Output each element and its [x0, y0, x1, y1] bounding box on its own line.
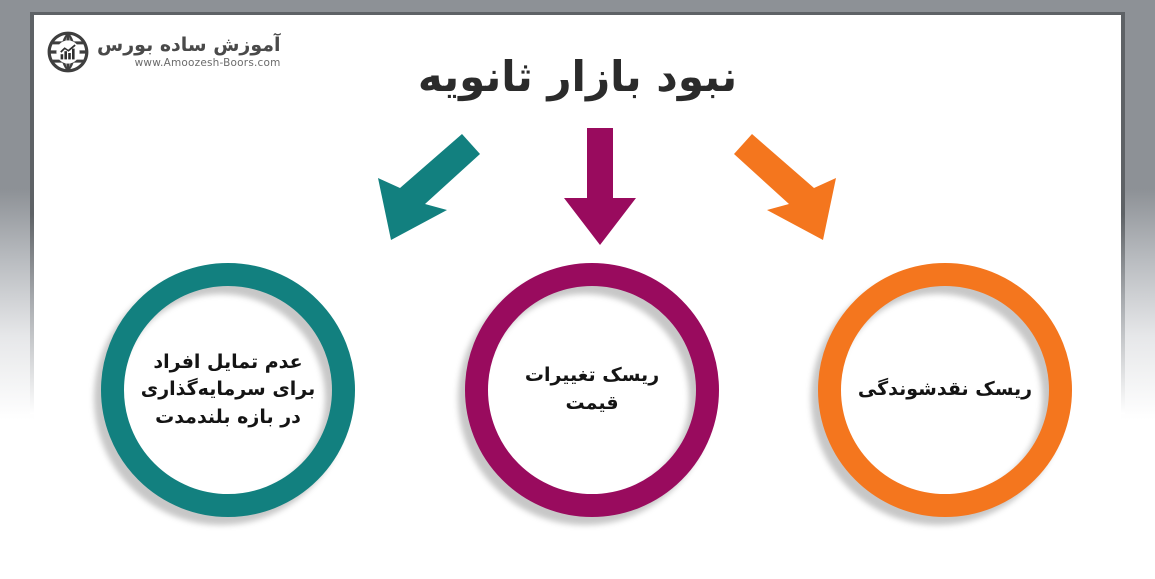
circle-label: ریسک تغییرات قیمت: [491, 289, 693, 491]
page-title: نبود بازار ثانویه: [0, 52, 1155, 101]
arrow-down-right-icon: [733, 128, 845, 246]
circle-label-line: ریسک تغییرات قیمت: [503, 362, 681, 417]
arrow-down-left-icon: [369, 128, 481, 246]
circle-label: ریسک نقدشوندگی: [844, 289, 1046, 491]
circle-lack-of-willingness[interactable]: عدم تمایل افراد برای سرمایه‌گذاری در باز…: [101, 263, 355, 517]
circle-label: عدم تمایل افراد برای سرمایه‌گذاری در باز…: [127, 289, 329, 491]
circle-label-line: ریسک نقدشوندگی: [858, 376, 1032, 404]
circle-label-line: برای سرمایه‌گذاری: [141, 378, 315, 400]
circle-label-line: در بازه بلندمدت: [155, 406, 301, 428]
circle-liquidity-risk[interactable]: ریسک نقدشوندگی: [818, 263, 1072, 517]
arrow-down-icon: [552, 128, 648, 246]
circle-price-change-risk[interactable]: ریسک تغییرات قیمت: [465, 263, 719, 517]
frame-inner-line-top: [30, 12, 1125, 15]
circle-label-line: عدم تمایل افراد: [153, 351, 302, 373]
